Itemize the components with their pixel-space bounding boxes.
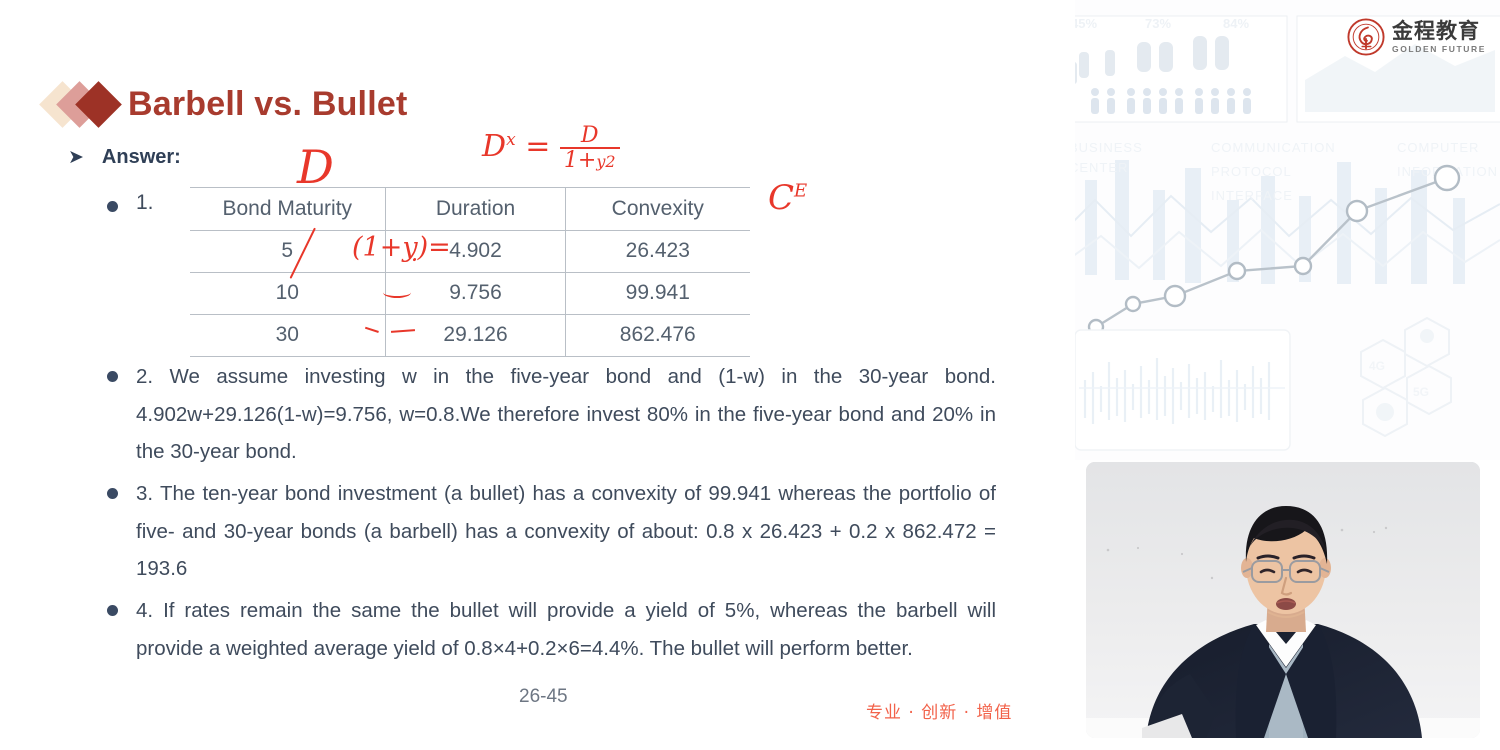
brand-slogan: 专业 · 创新 · 增值 [866, 698, 1012, 723]
table-header-duration: Duration [386, 188, 566, 231]
answer-heading-row: ➤ Answer: [68, 146, 181, 169]
svg-text:84%: 84% [1223, 16, 1249, 31]
logo-english-name: GOLDEN FUTURE [1392, 45, 1486, 54]
svg-text:PROTOCOL: PROTOCOL [1211, 164, 1292, 179]
cell-convexity: 26.423 [566, 231, 750, 273]
logo-chinese-name: 金程教育 [1392, 21, 1486, 42]
cell-maturity: 5 [190, 231, 386, 273]
cell-maturity: 10 [190, 273, 386, 315]
dot-bullet-icon [107, 371, 118, 382]
list-item-number: 1. [136, 191, 154, 215]
formula-equals: = [525, 129, 550, 164]
formula-den-frac-num: y [596, 152, 605, 171]
formula-lhs: D [482, 129, 506, 164]
svg-text:CENTER: CENTER [1075, 160, 1128, 175]
dot-bullet-icon [107, 201, 118, 212]
formula-numerator: D [560, 124, 620, 149]
paragraph-2-text: 2. We assume investing w in the five-yea… [136, 358, 996, 471]
cell-convexity: 99.941 [566, 273, 750, 315]
formula-fraction: D 1+y2 [560, 124, 620, 172]
cell-convexity: 862.476 [566, 315, 750, 357]
paragraph-3-text: 3. The ten-year bond investment (a bulle… [136, 475, 996, 588]
handwriting-modified-duration-formula: Dx = D 1+y2 [482, 124, 620, 172]
svg-text:INTERFACE: INTERFACE [1211, 188, 1293, 203]
cell-duration: 29.126 [386, 315, 566, 357]
slide-content-area: Barbell vs. Bullet ➤ Answer: 1. Bond Mat… [0, 0, 1075, 750]
video-frame [1086, 462, 1480, 738]
svg-text:4G: 4G [1369, 359, 1385, 373]
handwriting-ce-symbol: CE [768, 178, 807, 218]
cell-duration: 4.902 [386, 231, 566, 273]
answer-label: Answer: [102, 146, 181, 169]
brand-logo: 金程教育 GOLDEN FUTURE [1347, 18, 1486, 56]
list-item-1: 1. Bond Maturity Duration Convexity 5 4.… [107, 187, 750, 357]
ce-base: C [768, 178, 794, 218]
dot-bullet-icon [107, 605, 118, 616]
ce-sup: E [794, 181, 807, 202]
formula-den-prefix: 1+ [564, 148, 596, 173]
list-item-4: 4. If rates remain the same the bullet w… [107, 592, 1022, 667]
svg-text:COMPUTER: COMPUTER [1397, 140, 1479, 155]
right-panel: 45%73%84% [1075, 0, 1500, 750]
svg-text:5G: 5G [1413, 385, 1429, 399]
table-row: 30 29.126 862.476 [190, 315, 750, 357]
page-title: Barbell vs. Bullet [128, 85, 407, 124]
formula-denominator: 1+y2 [560, 149, 620, 172]
svg-text:73%: 73% [1145, 16, 1171, 31]
slide-title-row: Barbell vs. Bullet [44, 76, 407, 132]
formula-den-frac-den: 2 [605, 152, 615, 171]
arrow-bullet-icon: ➤ [68, 148, 84, 167]
bond-metrics-table: Bond Maturity Duration Convexity 5 4.902… [190, 187, 750, 357]
background-graphic-svg: 45%73%84% [1075, 0, 1500, 460]
cell-maturity: 30 [190, 315, 386, 357]
decorative-tech-background: 45%73%84% [1075, 0, 1500, 460]
list-item-2: 2. We assume investing w in the five-yea… [107, 358, 1022, 471]
svg-text:BUSINESS: BUSINESS [1075, 140, 1143, 155]
diamond-decoration-icon [44, 78, 128, 130]
svg-text:COMMUNICATION: COMMUNICATION [1211, 140, 1336, 155]
cell-duration: 9.756 [386, 273, 566, 315]
paragraph-4-text: 4. If rates remain the same the bullet w… [136, 592, 996, 667]
svg-text:45%: 45% [1075, 16, 1097, 31]
table-header-row: Bond Maturity Duration Convexity [190, 188, 750, 231]
logo-seal-icon [1347, 18, 1385, 56]
dot-bullet-icon [107, 488, 118, 499]
presenter-video-feed[interactable] [1086, 462, 1480, 738]
handwriting-tick-mark-1 [383, 287, 411, 298]
table-header-convexity: Convexity [566, 188, 750, 231]
table-header-bond-maturity: Bond Maturity [190, 188, 386, 231]
list-item-3: 3. The ten-year bond investment (a bulle… [107, 475, 1022, 588]
table-row: 10 9.756 99.941 [190, 273, 750, 315]
page-number: 26-45 [519, 686, 568, 708]
formula-lhs-sup: x [506, 130, 516, 150]
slide-screenshot: Barbell vs. Bullet ➤ Answer: 1. Bond Mat… [0, 0, 1500, 750]
table-row: 5 4.902 26.423 [190, 231, 750, 273]
handwriting-d-symbol: D [297, 140, 334, 194]
